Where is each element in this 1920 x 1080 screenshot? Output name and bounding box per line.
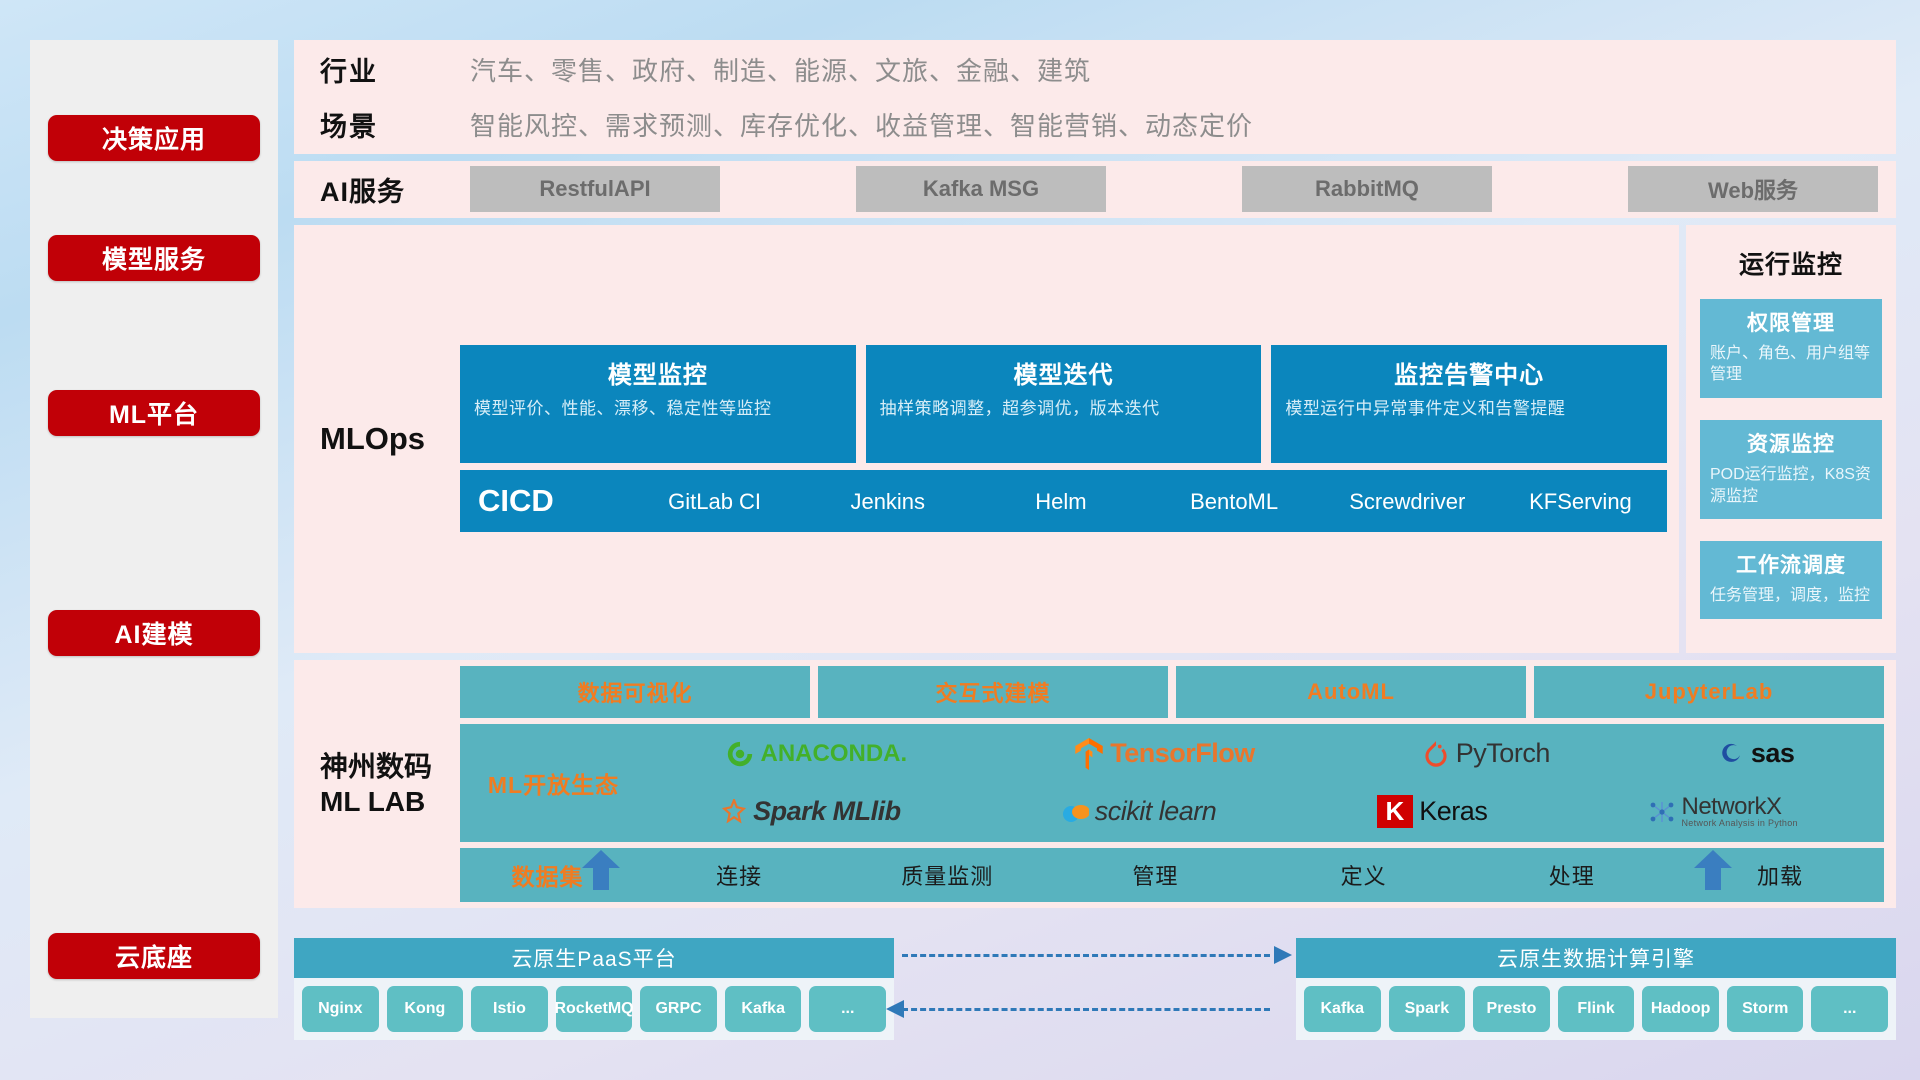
networkx-logo-text: NetworkX [1682,795,1798,819]
compute-chip-more[interactable]: ... [1811,986,1888,1032]
sas-logo-text: sas [1751,738,1795,769]
compute-chip-hadoop[interactable]: Hadoop [1642,986,1719,1032]
paas-platform-group: 云原生PaaS平台 Nginx Kong Istio RocketMQ GRPC… [294,938,894,1040]
dataset-item-connect[interactable]: 连接 [635,859,843,891]
card-title: 模型监控 [474,355,842,390]
card-title: 监控告警中心 [1285,355,1653,390]
dataset-item-quality[interactable]: 质量监测 [843,859,1051,891]
ops-card-permission[interactable]: 权限管理 账户、角色、用户组等管理 [1700,299,1882,398]
networkx-logo: NetworkX Network Analysis in Python [1648,795,1798,828]
arrow-head-left-icon [886,1000,904,1018]
lab-tool-data-visualization[interactable]: 数据可视化 [460,666,810,718]
lab-tool-automl[interactable]: AutoML [1176,666,1526,718]
card-desc: 模型评价、性能、漂移、稳定性等监控 [474,398,842,421]
dashed-line-backward [902,1008,1270,1011]
rail-tag-decision-app[interactable]: 决策应用 [48,115,260,161]
sas-icon [1717,740,1745,768]
anaconda-logo-text: ANACONDA. [761,740,908,768]
spark-star-icon [721,799,747,825]
ai-service-label: AI服务 [320,170,470,209]
cicd-bar: CICD GitLab CI Jenkins Helm BentoML Scre… [460,470,1667,532]
paas-chip-kong[interactable]: Kong [387,986,464,1032]
pytorch-logo-text: PyTorch [1456,738,1550,769]
ai-service-band: AI服务 RestfulAPI Kafka MSG RabbitMQ Web服务 [294,161,1896,218]
paas-chip-rocketmq[interactable]: RocketMQ [556,986,633,1032]
layer-rail: 决策应用 模型服务 ML平台 AI建模 云底座 [30,40,278,1018]
paas-chip-istio[interactable]: Istio [471,986,548,1032]
ecosystem-label: ML开放生态 [466,766,641,800]
pytorch-logo: PyTorch [1422,738,1550,769]
scikit-learn-logo: scikit learn [1061,796,1217,827]
keras-k-icon: K [1377,795,1414,828]
spark-mllib-logo: Spark MLlib [721,796,901,827]
scenario-values: 智能风控、需求预测、库存优化、收益管理、智能营销、动态定价 [470,106,1253,143]
compute-chip-kafka[interactable]: Kafka [1304,986,1381,1032]
dataset-item-manage[interactable]: 管理 [1051,859,1259,891]
ml-lab-label: 神州数码 ML LAB [320,749,460,819]
ops-monitor-panel: 运行监控 权限管理 账户、角色、用户组等管理 资源监控 POD运行监控，K8S资… [1686,225,1896,653]
scikit-learn-icon [1061,798,1089,826]
tensorflow-logo: TensorFlow [1074,738,1255,770]
cicd-tool-gitlab-ci[interactable]: GitLab CI [628,490,801,513]
compute-chip-spark[interactable]: Spark [1389,986,1466,1032]
paas-chip-grpc[interactable]: GRPC [640,986,717,1032]
lab-tool-jupyterlab[interactable]: JupyterLab [1534,666,1884,718]
card-title: 工作流调度 [1710,549,1872,579]
compute-chip-presto[interactable]: Presto [1473,986,1550,1032]
card-desc: 抽样策略调整，超参调优，版本迭代 [880,398,1248,421]
ai-service-chip-web[interactable]: Web服务 [1628,166,1878,212]
mlops-card-model-iteration[interactable]: 模型迭代 抽样策略调整，超参调优，版本迭代 [866,345,1262,463]
cloud-base-zone: 云原生PaaS平台 Nginx Kong Istio RocketMQ GRPC… [294,931,1896,1040]
industry-label: 行业 [320,50,470,89]
data-compute-engine-title: 云原生数据计算引擎 [1296,938,1896,978]
ml-lab-band: 神州数码 ML LAB 数据可视化 交互式建模 AutoML JupyterLa… [294,660,1896,908]
mlops-label: MLOps [320,421,460,457]
mlops-card-alert-center[interactable]: 监控告警中心 模型运行中异常事件定义和告警提醒 [1271,345,1667,463]
industry-row: 行业 汽车、零售、政府、制造、能源、文旅、金融、建筑 [320,50,1878,89]
cicd-tool-screwdriver[interactable]: Screwdriver [1321,490,1494,513]
spark-mllib-logo-text: Spark MLlib [753,796,901,827]
scenario-row: 场景 智能风控、需求预测、库存优化、收益管理、智能营销、动态定价 [320,105,1878,144]
ml-lab-label-line1: 神州数码 [320,749,460,784]
card-title: 模型迭代 [880,355,1248,390]
paas-chip-kafka[interactable]: Kafka [725,986,802,1032]
compute-chip-flink[interactable]: Flink [1558,986,1635,1032]
paas-chip-nginx[interactable]: Nginx [302,986,379,1032]
lab-tool-interactive-modeling[interactable]: 交互式建模 [818,666,1168,718]
mlops-card-model-monitoring[interactable]: 模型监控 模型评价、性能、漂移、稳定性等监控 [460,345,856,463]
tensorflow-icon [1074,738,1104,770]
ai-service-chip-rabbitmq[interactable]: RabbitMQ [1242,166,1492,212]
compute-chip-storm[interactable]: Storm [1727,986,1804,1032]
ai-service-chip-restfulapi[interactable]: RestfulAPI [470,166,720,212]
networkx-logo-subtitle: Network Analysis in Python [1682,819,1798,828]
paas-platform-title: 云原生PaaS平台 [294,938,894,978]
cicd-label: CICD [478,483,628,519]
dataset-item-process[interactable]: 处理 [1468,859,1676,891]
anaconda-logo: ANACONDA. [725,739,908,769]
card-title: 权限管理 [1710,307,1872,337]
dataset-item-define[interactable]: 定义 [1260,859,1468,891]
pytorch-icon [1422,739,1450,769]
keras-logo-text: Keras [1419,796,1487,827]
content-stack: 行业 汽车、零售、政府、制造、能源、文旅、金融、建筑 场景 智能风控、需求预测、… [294,40,1896,1040]
ops-card-resource[interactable]: 资源监控 POD运行监控，K8S资源监控 [1700,420,1882,519]
industry-values: 汽车、零售、政府、制造、能源、文旅、金融、建筑 [470,51,1091,88]
data-compute-engine-group: 云原生数据计算引擎 Kafka Spark Presto Flink Hadoo… [1296,938,1896,1040]
paas-chip-more[interactable]: ... [809,986,886,1032]
sas-logo: sas [1717,738,1795,769]
card-desc: 任务管理，调度，监控 [1710,585,1872,607]
dataset-row: 数据集 连接 质量监测 管理 定义 处理 加载 [460,848,1884,902]
cicd-tool-bentoml[interactable]: BentoML [1148,490,1321,513]
arrow-head-right-icon [1274,946,1292,964]
rail-tag-ml-platform[interactable]: ML平台 [48,390,260,436]
mlops-and-ops-row: MLOps 模型监控 模型评价、性能、漂移、稳定性等监控 模型迭代 抽样策略调整… [294,225,1896,653]
ml-lab-label-line2: ML LAB [320,784,460,819]
scenario-label: 场景 [320,105,470,144]
bidirectional-link [894,926,1296,1022]
card-desc: POD运行监控，K8S资源监控 [1710,464,1872,507]
cicd-tool-kfserving[interactable]: KFServing [1494,490,1667,513]
ops-card-workflow[interactable]: 工作流调度 任务管理，调度，监控 [1700,541,1882,619]
tensorflow-logo-text: TensorFlow [1110,738,1255,769]
architecture-diagram: 决策应用 模型服务 ML平台 AI建模 云底座 行业 汽车、零售、政府、制造、能… [0,0,1920,1080]
decision-app-band: 行业 汽车、零售、政府、制造、能源、文旅、金融、建筑 场景 智能风控、需求预测、… [294,40,1896,154]
keras-logo: K Keras [1377,795,1488,828]
dashed-line-forward [902,954,1270,957]
ai-service-chip-kafka-msg[interactable]: Kafka MSG [856,166,1106,212]
cicd-tool-jenkins[interactable]: Jenkins [801,490,974,513]
ops-panel-title: 运行监控 [1700,245,1882,281]
rail-tag-model-service[interactable]: 模型服务 [48,235,260,281]
cicd-tool-helm[interactable]: Helm [974,490,1147,513]
rail-tag-cloud-base[interactable]: 云底座 [48,933,260,979]
anaconda-icon [725,739,755,769]
rail-tag-ai-modeling[interactable]: AI建模 [48,610,260,656]
card-desc: 账户、角色、用户组等管理 [1710,343,1872,386]
card-desc: 模型运行中异常事件定义和告警提醒 [1285,398,1653,421]
card-title: 资源监控 [1710,428,1872,458]
scikit-learn-logo-text: scikit learn [1095,796,1217,827]
up-arrow-right-icon [1694,850,1732,890]
up-arrow-left-icon [582,850,620,890]
ml-open-ecosystem: ML开放生态 ANACONDA. [460,724,1884,842]
networkx-icon [1648,799,1676,825]
mlops-band: MLOps 模型监控 模型评价、性能、漂移、稳定性等监控 模型迭代 抽样策略调整… [294,225,1679,653]
